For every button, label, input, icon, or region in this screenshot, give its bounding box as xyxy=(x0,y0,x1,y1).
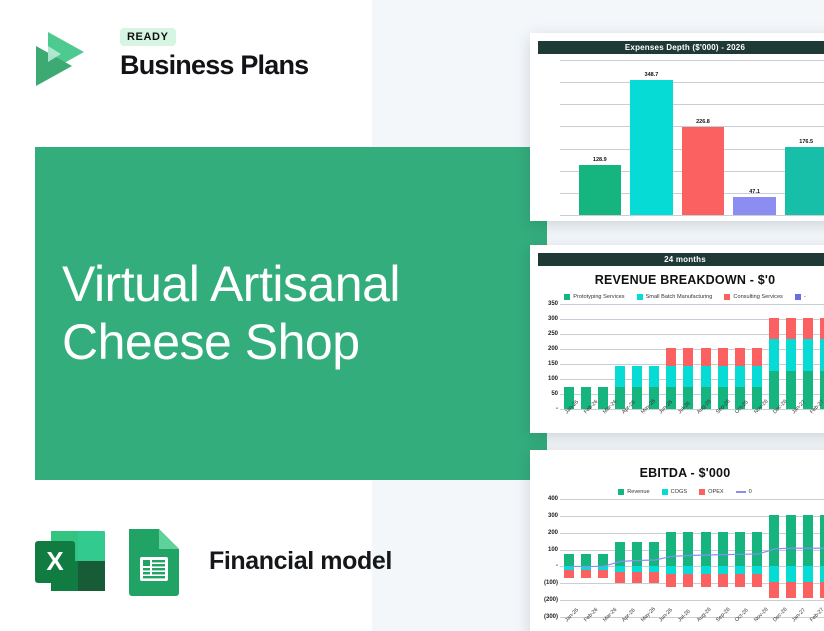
legend-swatch xyxy=(699,489,705,495)
bar-group: 226.8 xyxy=(677,60,729,215)
bar-group xyxy=(697,304,714,409)
legend-label: 0 xyxy=(749,489,752,495)
y-tick-label: 350 xyxy=(548,301,558,307)
bar-value-label: 47.1 xyxy=(749,189,760,195)
bar-group xyxy=(748,304,765,409)
chart3-zero-line xyxy=(560,499,824,617)
chart2-bars xyxy=(560,304,824,409)
bar-value-label: 128.9 xyxy=(593,157,607,163)
y-tick-label: 200 xyxy=(548,346,558,352)
chart3-x-axis: Jan-26Feb-26Mar-26Apr-26May-26Jun-26Jul-… xyxy=(564,619,824,625)
brand-name: Business Plans xyxy=(120,50,308,81)
bar-group xyxy=(714,304,731,409)
bar-group: 348.7 xyxy=(626,60,678,215)
chart-card-ebitda[interactable]: EBITDA - $'000 RevenueCOGSOPEX0 40030020… xyxy=(530,450,824,631)
gridline xyxy=(560,617,824,618)
bar xyxy=(733,197,775,215)
bar-group xyxy=(611,304,628,409)
bar-segment xyxy=(786,318,796,340)
y-tick-label: 200 xyxy=(548,530,558,536)
y-tick-label: 100 xyxy=(548,376,558,382)
legend-label: Revenue xyxy=(627,489,649,495)
chart3-y-axis: 400300200100-(100)(200)(300) xyxy=(534,499,560,617)
bar-segment xyxy=(752,366,762,387)
bar-segment xyxy=(666,348,676,366)
legend-swatch xyxy=(637,294,643,300)
bar-group xyxy=(783,304,800,409)
bar-group xyxy=(629,304,646,409)
legend-item: Prototyping Services xyxy=(564,294,624,300)
bar-group xyxy=(577,304,594,409)
google-sheets-icon xyxy=(123,525,185,597)
stacked-bar xyxy=(786,318,796,409)
bar-segment xyxy=(820,318,824,340)
format-row: X Financial model xyxy=(33,523,392,599)
bar-segment xyxy=(666,366,676,387)
y-tick-label: 100 xyxy=(548,547,558,553)
bar-group xyxy=(646,304,663,409)
bar-value-label: 226.8 xyxy=(696,119,710,125)
bar-group xyxy=(560,304,577,409)
bar-segment xyxy=(752,348,762,366)
bar-group xyxy=(800,304,817,409)
stacked-bar xyxy=(803,318,813,409)
legend-swatch xyxy=(564,294,570,300)
legend-label: COGS xyxy=(671,489,687,495)
bar-segment xyxy=(735,348,745,366)
chart2-legend: Prototyping ServicesSmall Batch Manufact… xyxy=(530,294,824,300)
legend-item: Small Batch Manufacturing xyxy=(637,294,713,300)
brand-logo: READY Business Plans xyxy=(28,26,278,92)
legend-label: - xyxy=(804,294,806,300)
bar-group xyxy=(594,304,611,409)
chart-card-expenses[interactable]: Expenses Depth ($'000) - 2026 128.9348.7… xyxy=(530,33,824,221)
bar-value-label: 176.5 xyxy=(799,139,813,145)
bar xyxy=(785,147,824,215)
bar-group xyxy=(731,304,748,409)
stacked-bar xyxy=(820,318,824,409)
bar-segment xyxy=(735,366,745,387)
chart2-y-axis: 35030025020015010050- xyxy=(534,304,560,409)
bar-segment xyxy=(786,339,796,371)
bar-segment xyxy=(718,348,728,366)
bar-group xyxy=(817,304,824,409)
legend-label: Small Batch Manufacturing xyxy=(646,294,713,300)
legend-item: - xyxy=(795,294,806,300)
svg-text:X: X xyxy=(46,546,64,576)
bar-segment xyxy=(701,348,711,366)
chart3-legend: RevenueCOGSOPEX0 xyxy=(530,489,824,495)
y-tick-label: - xyxy=(556,406,558,412)
page-title: Virtual Artisanal Cheese Shop xyxy=(62,255,492,371)
slide-canvas: READY Business Plans Virtual Artisanal C… xyxy=(0,0,824,631)
bar-group: 128.9 xyxy=(574,60,626,215)
y-tick-label: 300 xyxy=(548,316,558,322)
bar-segment xyxy=(803,339,813,371)
bar-group xyxy=(663,304,680,409)
y-tick-label: 400 xyxy=(548,496,558,502)
y-tick-label: 50 xyxy=(551,391,558,397)
chart2-x-axis: Jan-26Feb-26Mar-26Apr-26May-26Jun-26Jul-… xyxy=(564,411,824,417)
legend-swatch xyxy=(662,489,668,495)
bar-segment xyxy=(718,366,728,387)
bar-segment xyxy=(769,371,779,409)
legend-item: Revenue xyxy=(618,489,649,495)
ready-badge: READY xyxy=(120,28,176,46)
legend-swatch xyxy=(618,489,624,495)
bar-segment xyxy=(632,366,642,387)
gridline xyxy=(560,409,824,410)
legend-label: OPEX xyxy=(708,489,724,495)
bar-group: 176.5 xyxy=(780,60,824,215)
y-tick-label: (100) xyxy=(544,580,558,586)
y-tick-label: 250 xyxy=(548,331,558,337)
legend-swatch xyxy=(736,491,746,493)
legend-label: Prototyping Services xyxy=(573,294,624,300)
play-triangle-logo-icon xyxy=(28,30,90,90)
chart1-plot-area: 128.9348.7226.847.1176.5 xyxy=(534,60,824,215)
microsoft-excel-icon: X xyxy=(33,525,107,597)
legend-item: Consulting Services xyxy=(724,294,782,300)
stacked-bar xyxy=(769,318,779,409)
bar xyxy=(682,127,724,215)
bar xyxy=(579,165,621,215)
bar-segment xyxy=(701,366,711,387)
financial-model-label: Financial model xyxy=(209,547,392,576)
chart-card-revenue[interactable]: 24 months REVENUE BREAKDOWN - $'0 Protot… xyxy=(530,245,824,433)
y-tick-label: 300 xyxy=(548,513,558,519)
legend-swatch xyxy=(795,294,801,300)
chart2-period-band: 24 months xyxy=(538,253,824,266)
bar-segment xyxy=(615,387,625,410)
bar-segment xyxy=(683,366,693,387)
y-tick-label: (200) xyxy=(544,597,558,603)
legend-item: COGS xyxy=(662,489,687,495)
bar-segment xyxy=(803,318,813,340)
y-tick-label: - xyxy=(556,563,558,569)
chart3-plot-area: 400300200100-(100)(200)(300) xyxy=(534,499,824,617)
bar-segment xyxy=(615,366,625,387)
bar-group xyxy=(766,304,783,409)
bar-segment xyxy=(769,318,779,340)
bar-group: 47.1 xyxy=(729,60,781,215)
legend-item: 0 xyxy=(736,489,752,495)
legend-item: OPEX xyxy=(699,489,724,495)
y-tick-label: (300) xyxy=(544,614,558,620)
bar-group xyxy=(680,304,697,409)
chart2-plot-area: 35030025020015010050- xyxy=(534,304,824,409)
gridline xyxy=(560,215,824,216)
legend-swatch xyxy=(724,294,730,300)
bar-value-label: 348.7 xyxy=(645,72,659,78)
bar-segment xyxy=(769,339,779,371)
legend-label: Consulting Services xyxy=(733,294,782,300)
stacked-bar xyxy=(752,348,762,410)
chart3-title: EBITDA - $'000 xyxy=(530,466,824,480)
chart1-title-band: Expenses Depth ($'000) - 2026 xyxy=(538,41,824,54)
bar xyxy=(630,80,672,215)
bar-segment xyxy=(683,348,693,366)
chart2-title: REVENUE BREAKDOWN - $'0 xyxy=(530,273,824,287)
chart1-bars: 128.9348.7226.847.1176.5 xyxy=(560,60,824,215)
bar-segment xyxy=(649,366,659,387)
y-tick-label: 150 xyxy=(548,361,558,367)
bar-segment xyxy=(820,339,824,371)
